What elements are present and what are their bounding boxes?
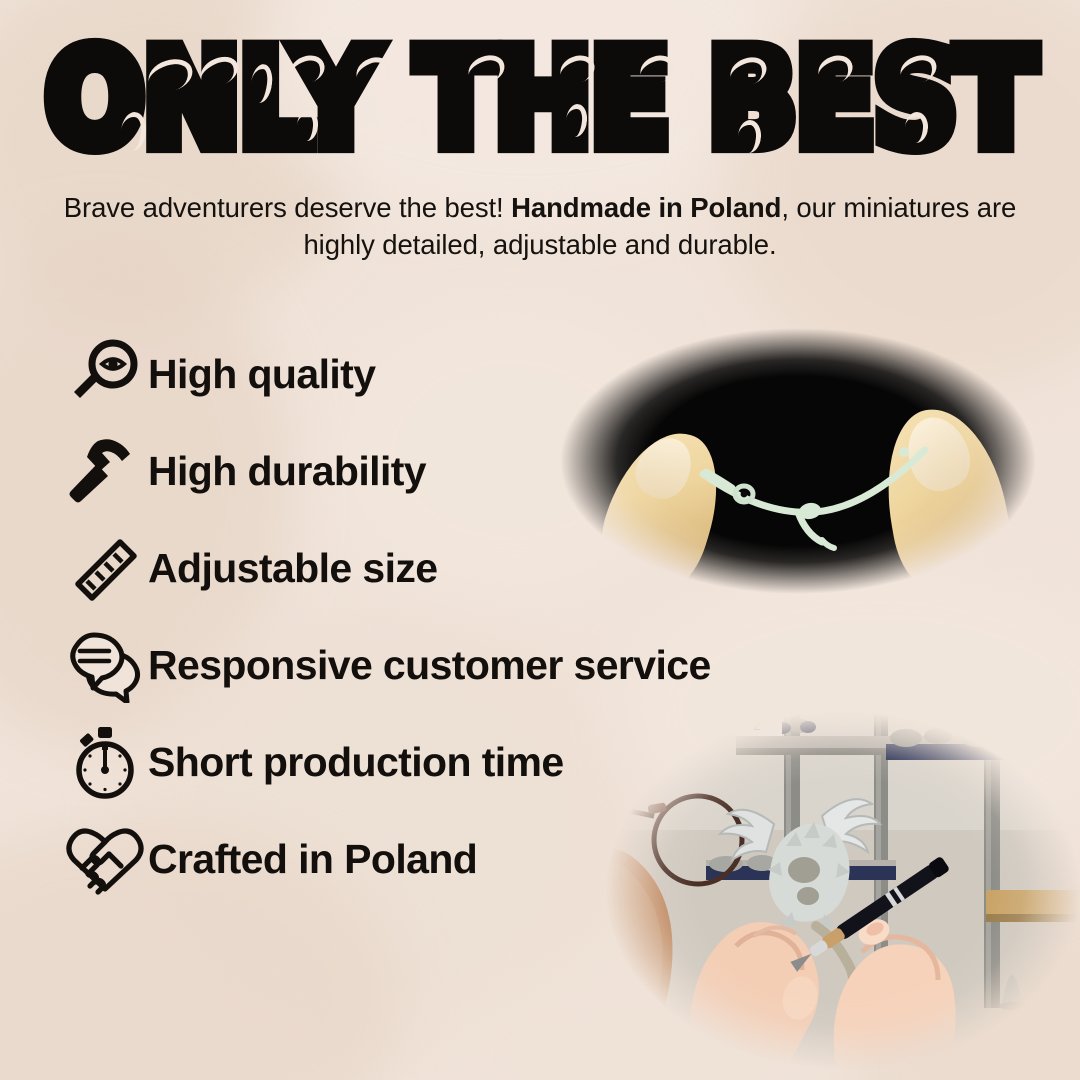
- feature-label: Short production time: [148, 739, 564, 786]
- workshop-scene: 2: [586, 700, 1080, 1080]
- feature-label: Responsive customer service: [148, 642, 711, 689]
- speech-bubbles-icon: [62, 625, 148, 707]
- title-block: ONLY THE BEST: [0, 34, 1080, 150]
- promo-poster: ONLY THE BEST Brave adventurers deserve …: [0, 0, 1080, 1080]
- subtitle-lead: Brave adventurers deserve the best!: [64, 192, 511, 223]
- magnifier-eye-icon: [62, 334, 148, 416]
- feature-label: High quality: [148, 351, 375, 398]
- subtitle-emphasis: Handmade in Poland: [511, 192, 781, 223]
- heart-handshake-icon: [62, 819, 148, 901]
- page-title: ONLY THE BEST: [45, 34, 1034, 166]
- photo-content: 2: [586, 700, 1080, 1080]
- hammer-icon: [62, 431, 148, 513]
- feature-label: High durability: [148, 448, 426, 495]
- flexible-miniature-part: [548, 312, 1048, 610]
- photo-content: [548, 312, 1048, 610]
- svg-text:2: 2: [753, 718, 760, 733]
- flexible-miniature-photo: [548, 312, 1048, 610]
- feature-label: Adjustable size: [148, 545, 437, 592]
- feature-label: Crafted in Poland: [148, 836, 477, 883]
- workshop-painting-photo: 2: [586, 700, 1080, 1080]
- stopwatch-icon: [62, 722, 148, 804]
- ruler-icon: [62, 528, 148, 610]
- subtitle: Brave adventurers deserve the best! Hand…: [0, 190, 1080, 263]
